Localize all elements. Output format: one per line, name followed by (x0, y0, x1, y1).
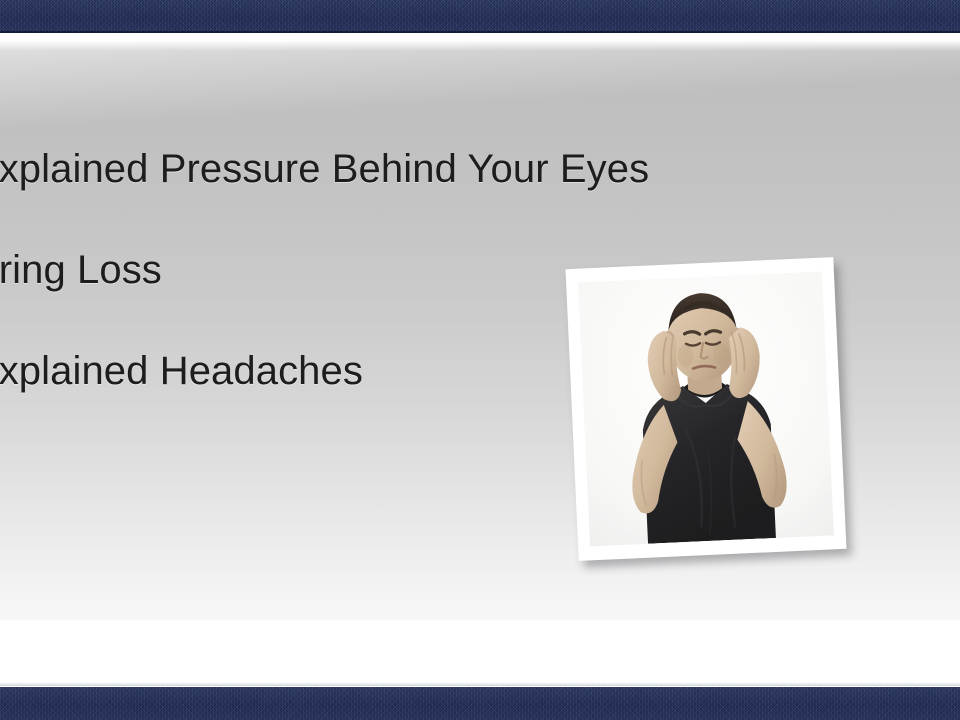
bottom-letterbox-hairline (0, 682, 960, 686)
slide-content-area: nexplained Pressure Behind Your Eyes ear… (0, 41, 960, 620)
man-with-headache-illustration (578, 272, 834, 547)
bullet-line-1: nexplained Pressure Behind Your Eyes (0, 119, 834, 220)
bottom-letterbox-strip (0, 620, 960, 687)
top-letterbox-strip (0, 33, 960, 41)
slide-frame: nexplained Pressure Behind Your Eyes ear… (0, 0, 960, 720)
photo-image (578, 272, 834, 547)
slide-top-sheen (0, 41, 960, 51)
photo-card (566, 257, 847, 561)
top-navy-band (0, 0, 960, 33)
bottom-navy-band (0, 687, 960, 720)
